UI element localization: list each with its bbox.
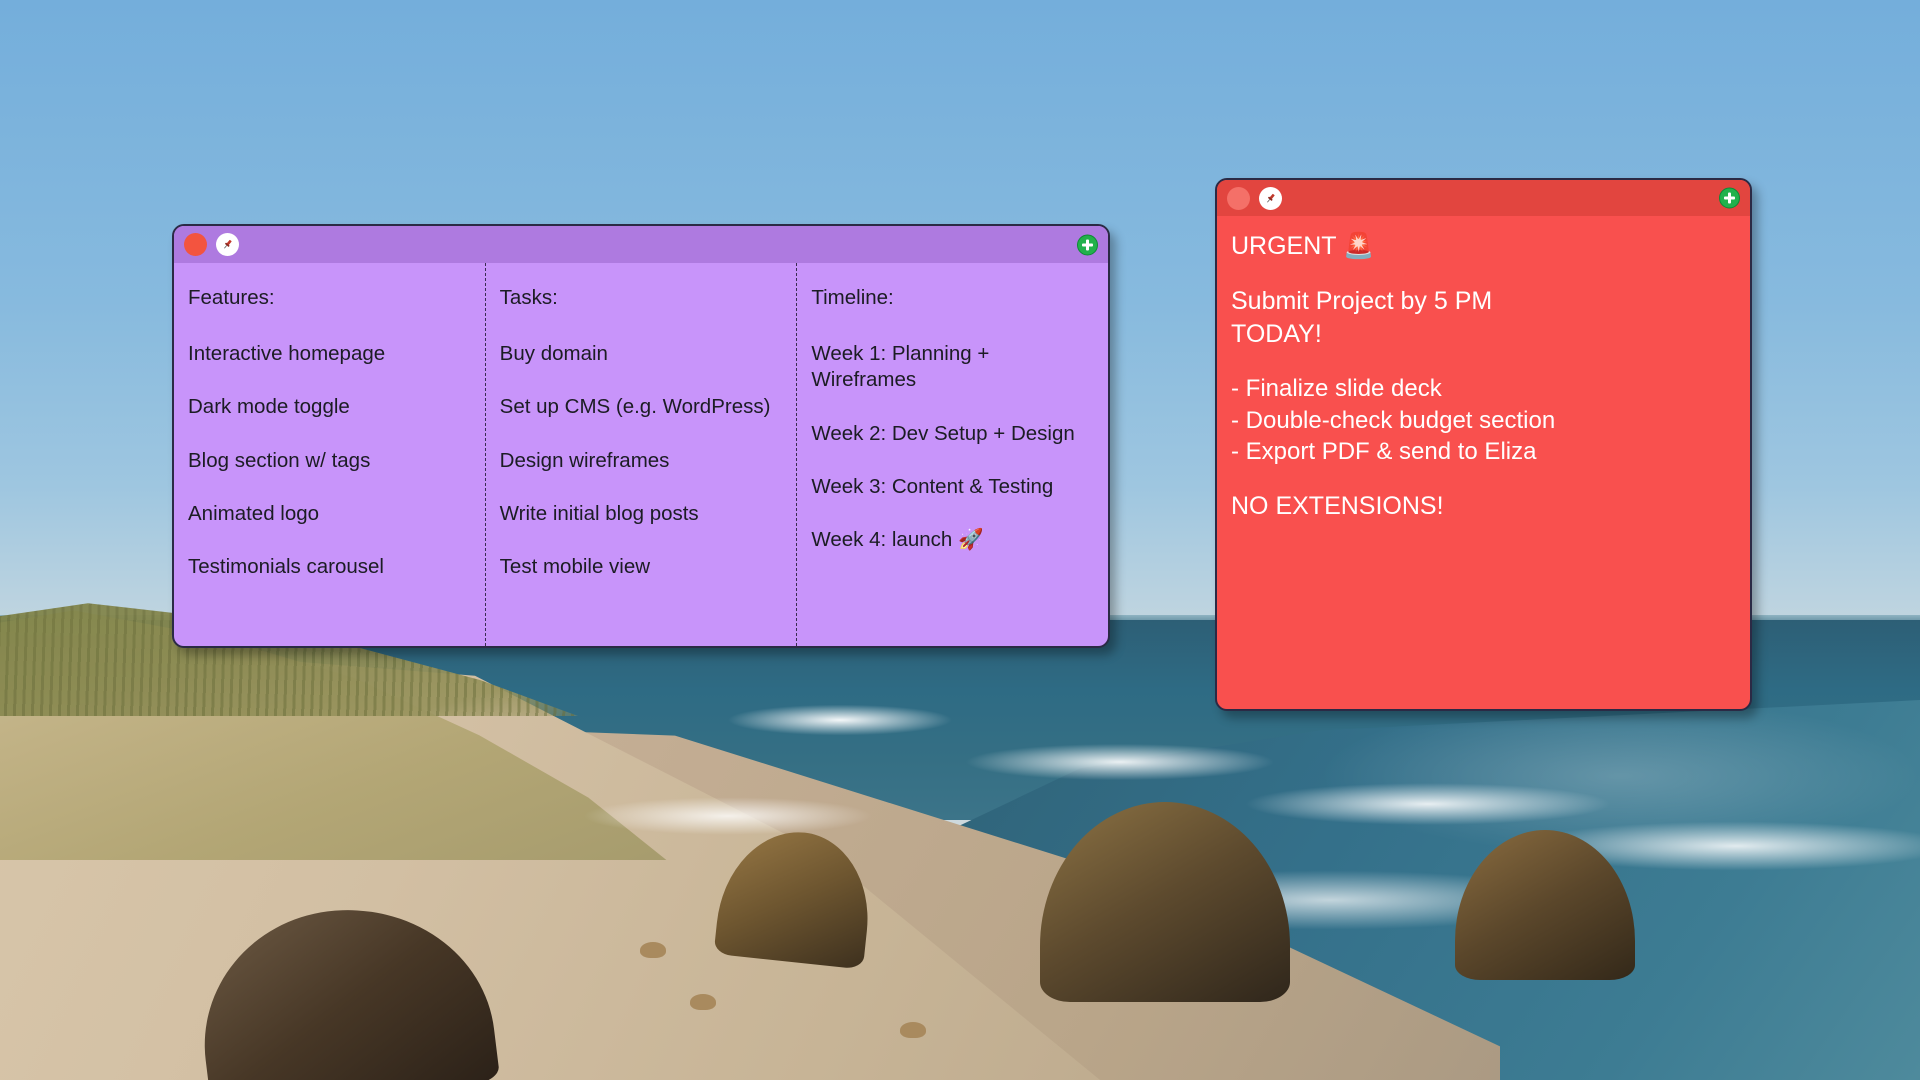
column-tasks: Tasks: Buy domain Set up CMS (e.g. WordP… bbox=[486, 263, 798, 646]
note-content[interactable]: URGENT 🚨 Submit Project by 5 PM TODAY! -… bbox=[1217, 216, 1750, 709]
note-titlebar[interactable] bbox=[174, 226, 1108, 263]
spacer bbox=[1231, 468, 1736, 490]
list-item: Design wireframes bbox=[500, 448, 783, 474]
list-item: Blog section w/ tags bbox=[188, 448, 471, 474]
list-item: Set up CMS (e.g. WordPress) bbox=[500, 394, 783, 420]
list-item: Dark mode toggle bbox=[188, 394, 471, 420]
spacer bbox=[1231, 263, 1736, 285]
add-note-button[interactable] bbox=[1719, 188, 1740, 209]
list-item: Week 1: Planning + Wireframes bbox=[811, 341, 1094, 393]
list-item: Animated logo bbox=[188, 501, 471, 527]
urgent-footer: NO EXTENSIONS! bbox=[1231, 490, 1736, 523]
checklist-item: - Finalize slide deck bbox=[1231, 373, 1736, 405]
close-button[interactable] bbox=[184, 233, 207, 256]
checklist-item: - Export PDF & send to Eliza bbox=[1231, 436, 1736, 468]
list-item: Write initial blog posts bbox=[500, 501, 783, 527]
pushpin-icon bbox=[1264, 192, 1277, 205]
titlebar-left-controls bbox=[184, 233, 239, 256]
add-note-button[interactable] bbox=[1077, 234, 1098, 255]
list-item: Week 2: Dev Setup + Design bbox=[811, 421, 1094, 447]
column-heading: Features: bbox=[188, 285, 471, 311]
list-item: Week 3: Content & Testing bbox=[811, 474, 1094, 500]
pushpin-icon bbox=[221, 238, 234, 251]
checklist-item: - Double-check budget section bbox=[1231, 405, 1736, 437]
list-item: Interactive homepage bbox=[188, 341, 471, 367]
column-heading: Tasks: bbox=[500, 285, 783, 311]
column-timeline: Timeline: Week 1: Planning + Wireframes … bbox=[797, 263, 1108, 646]
beach-pebble bbox=[690, 994, 716, 1010]
note-titlebar[interactable] bbox=[1217, 180, 1750, 216]
list-item: Week 4: launch 🚀 bbox=[811, 527, 1094, 553]
urgent-reminder-note[interactable]: URGENT 🚨 Submit Project by 5 PM TODAY! -… bbox=[1215, 178, 1752, 711]
list-item: Test mobile view bbox=[500, 554, 783, 580]
plus-icon bbox=[1724, 193, 1735, 204]
beach-pebble bbox=[900, 1022, 926, 1038]
urgent-deadline-line-1: Submit Project by 5 PM bbox=[1231, 285, 1736, 318]
desktop-wallpaper: Features: Interactive homepage Dark mode… bbox=[0, 0, 1920, 1080]
urgent-title: URGENT 🚨 bbox=[1231, 230, 1736, 263]
spacer bbox=[1231, 351, 1736, 373]
list-item: Testimonials carousel bbox=[188, 554, 471, 580]
urgent-deadline-line-2: TODAY! bbox=[1231, 318, 1736, 351]
pin-button[interactable] bbox=[1259, 187, 1282, 210]
plus-icon bbox=[1082, 239, 1093, 250]
column-heading: Timeline: bbox=[811, 285, 1094, 311]
titlebar-left-controls bbox=[1227, 187, 1282, 210]
pin-button[interactable] bbox=[216, 233, 239, 256]
column-features: Features: Interactive homepage Dark mode… bbox=[174, 263, 486, 646]
note-content[interactable]: Features: Interactive homepage Dark mode… bbox=[174, 263, 1108, 646]
close-button[interactable] bbox=[1227, 187, 1250, 210]
project-planning-note[interactable]: Features: Interactive homepage Dark mode… bbox=[172, 224, 1110, 648]
list-item: Buy domain bbox=[500, 341, 783, 367]
beach-pebble bbox=[640, 942, 666, 958]
